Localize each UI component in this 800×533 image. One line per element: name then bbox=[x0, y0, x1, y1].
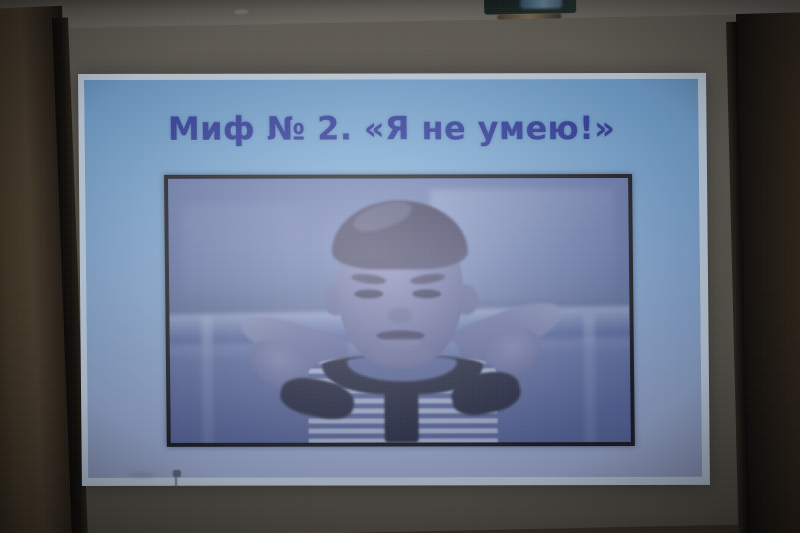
screen-smudge bbox=[128, 472, 154, 478]
baby-tie bbox=[384, 384, 419, 442]
slide-photo-frame bbox=[164, 174, 635, 447]
projected-slide: Миф № 2. «Я не умею!» bbox=[84, 79, 702, 478]
ceiling-fixture-dot bbox=[234, 9, 248, 14]
slide-title: Миф № 2. «Я не умею!» bbox=[84, 109, 698, 148]
baby-figure bbox=[168, 178, 631, 443]
screen-marking-stem bbox=[175, 476, 177, 490]
slide-photo bbox=[168, 178, 631, 443]
screen-marking bbox=[170, 470, 183, 490]
ceiling-recess-light bbox=[520, 0, 562, 9]
baby-nose bbox=[387, 308, 412, 324]
projected-slide-photo-scene: Миф № 2. «Я не умею!» bbox=[0, 0, 800, 533]
